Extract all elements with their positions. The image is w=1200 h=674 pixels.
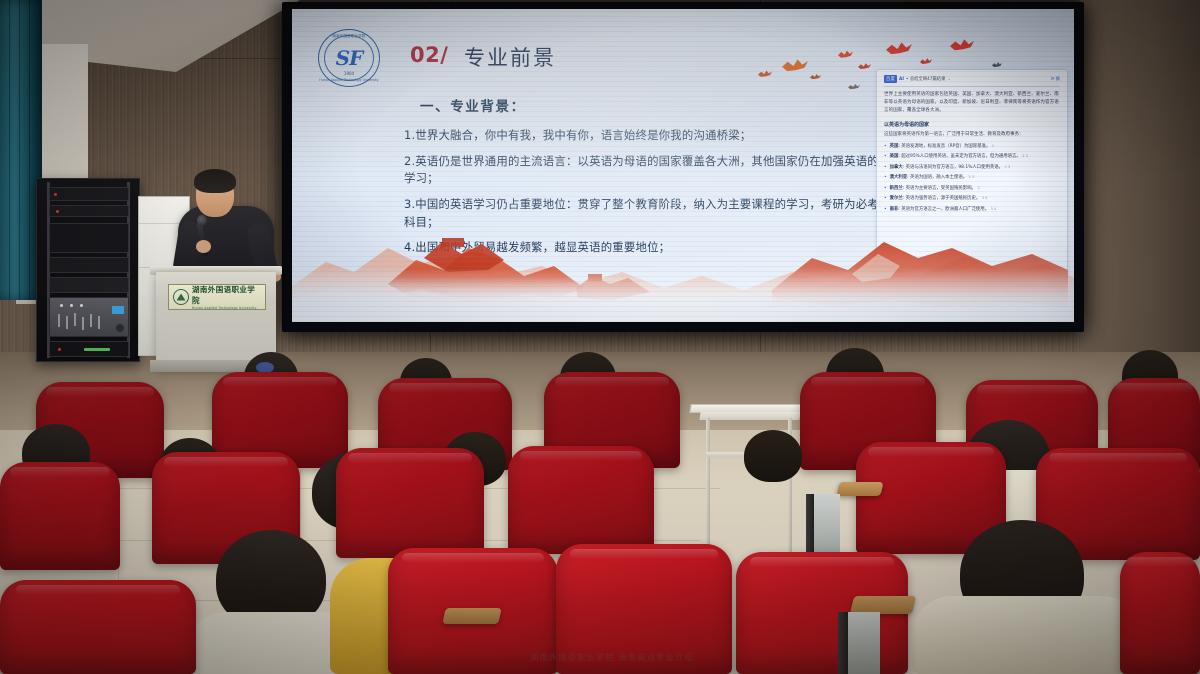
podium-logo-icon bbox=[173, 289, 189, 305]
slide-bullet: 1.世界大融合，你中有我，我中有你，语言始终是你我的沟通桥梁； bbox=[404, 127, 879, 145]
slide-title: 专业前景 bbox=[464, 42, 556, 72]
ai-list-item: • 英国: 英语发源地，标准发音（RP音）为国际基准。 1 bbox=[884, 143, 1060, 150]
bullet-dot-icon: • bbox=[884, 143, 887, 150]
ai-tag: AI bbox=[899, 77, 904, 82]
speaker-hair bbox=[194, 169, 236, 193]
photo-watermark: 湖南外国语职业学院 商务英语专业介绍 bbox=[452, 652, 772, 663]
ai-list-item: • 新西兰: 英语为主要语言，受英国殖民影响。 3 bbox=[884, 185, 1060, 192]
bird-icon bbox=[848, 83, 860, 90]
ai-item-refs: 3 4 bbox=[982, 196, 988, 200]
baidu-badge: 百度 bbox=[884, 75, 897, 83]
bird-icon bbox=[950, 37, 974, 52]
ai-item-country: 美国 bbox=[890, 154, 899, 159]
ai-panel-header: 百度 AI • 总结全网47篇结果 ⌄ ⟳ 换 bbox=[884, 75, 1060, 87]
seal-year: 1904 bbox=[319, 71, 379, 76]
ai-item-desc: 英语为主要语言，受英国殖民影响。 bbox=[906, 186, 976, 191]
slide-heading: 一、专业背景： bbox=[420, 95, 526, 115]
bird-icon bbox=[758, 69, 772, 78]
university-seal-logo: 湖南外国语职业学院 SF 1904 Hunan Applied Technolo… bbox=[318, 29, 380, 87]
bullet-dot-icon: • bbox=[884, 185, 887, 192]
ai-item-refs: 2 3 bbox=[1022, 154, 1028, 158]
projection-screen: 湖南外国语职业学院 SF 1904 Hunan Applied Technolo… bbox=[292, 9, 1074, 322]
ai-item-country: 澳大利亚 bbox=[890, 175, 908, 180]
bird-icon bbox=[838, 49, 853, 59]
ai-lead-text: 这些国家将英语作为第一语言，广泛用于日常生活、教育及政府事务： bbox=[884, 131, 1060, 139]
bird-icon bbox=[886, 40, 912, 56]
ai-item-desc: 英语为国语，融入本土俚语。 bbox=[910, 175, 967, 180]
armrest bbox=[442, 608, 501, 624]
refresh-icon[interactable]: ⟳ 换 bbox=[1051, 76, 1060, 82]
armrest bbox=[837, 482, 884, 496]
ai-item-country: 爱尔兰 bbox=[890, 196, 903, 201]
seal-ring-bottom-text: Hunan Applied Technology University bbox=[319, 78, 379, 82]
seat bbox=[0, 462, 120, 570]
ai-item-desc: 英语发源地，标准发音（RP音）为国际基准。 bbox=[901, 144, 990, 149]
seat bbox=[508, 446, 654, 554]
microphone-head bbox=[197, 215, 207, 226]
ai-item-country: 加拿大 bbox=[890, 165, 903, 170]
ai-item-desc: 英语为强势语言，源于英国殖民历史。 bbox=[906, 196, 981, 201]
bird-icon bbox=[782, 57, 808, 73]
mist-overlay bbox=[292, 268, 1074, 322]
audio-mixer[interactable] bbox=[49, 297, 129, 337]
ai-item-refs: 1 bbox=[992, 144, 994, 148]
podium-nameplate: 湖南外国语职业学院 Hunan Applied Technology Unive… bbox=[168, 284, 266, 310]
ai-list-item: • 加拿大: 英语与法语同为官方语言，98.1%人口使用英语。 2 3 bbox=[884, 164, 1060, 171]
ai-list-item: • 南非: 英语为官方语言之一，欧洲裔人口广泛使用。 3 4 bbox=[884, 206, 1060, 213]
bird-icon bbox=[810, 73, 821, 80]
bullet-dot-icon: • bbox=[884, 195, 887, 202]
bird-icon bbox=[920, 57, 932, 65]
seal-ring-top-text: 湖南外国语职业学院 bbox=[319, 33, 379, 38]
bullet-dot-icon: • bbox=[884, 153, 887, 160]
ai-list-item: • 爱尔兰: 英语为强势语言，源于英国殖民历史。 3 4 bbox=[884, 195, 1060, 202]
seat bbox=[0, 580, 196, 674]
ai-item-refs: 3 bbox=[977, 186, 979, 190]
ai-item-refs: 3 4 bbox=[991, 207, 997, 211]
ai-summary-label: • 总结全网47篇结果 bbox=[906, 76, 945, 82]
slide-section-number: 02/ bbox=[410, 43, 448, 67]
av-equipment-rack bbox=[36, 178, 140, 362]
bullet-dot-icon: • bbox=[884, 164, 887, 171]
seat-side-panel bbox=[846, 612, 880, 674]
lecture-hall-photo: 湖南外国语职业学院 SF 1904 Hunan Applied Technolo… bbox=[0, 0, 1200, 674]
ai-item-desc: 英语为官方语言之一，欧洲裔人口广泛使用。 bbox=[901, 207, 989, 212]
ai-item-refs: 2 3 bbox=[1004, 165, 1010, 169]
audience-head bbox=[744, 430, 802, 482]
mountain-illustration bbox=[292, 214, 1074, 322]
ai-list-item: • 美国: 超过95%人口使用英语，虽未定为官方语言，但为通用语言。 2 3 bbox=[884, 153, 1060, 160]
seat-post bbox=[838, 612, 848, 674]
bullet-dot-icon: • bbox=[884, 174, 887, 181]
ai-item-desc: 超过95%人口使用英语，虽未定为官方语言，但为通用语言。 bbox=[901, 154, 1021, 159]
podium-institution-en: Hunan Applied Technology University bbox=[192, 306, 261, 310]
ai-item-country: 新西兰 bbox=[890, 186, 903, 191]
bird-icon bbox=[992, 61, 1002, 68]
slide-bullet: 2.英语仍是世界通用的主流语言：以英语为母语的国家覆盖各大洲，其他国家仍在加强英… bbox=[404, 153, 879, 188]
ai-item-country: 南非 bbox=[890, 207, 899, 212]
audience-shoulder bbox=[912, 596, 1142, 674]
seal-monogram: SF bbox=[336, 46, 363, 70]
seat bbox=[1120, 552, 1200, 674]
ai-list-item: • 澳大利亚: 英语为国语，融入本土俚语。 2 3 bbox=[884, 174, 1060, 181]
chevron-down-icon[interactable]: ⌄ bbox=[947, 77, 951, 82]
ai-item-refs: 2 3 bbox=[969, 175, 975, 179]
seat bbox=[336, 448, 484, 558]
ai-paragraph: 世界上主要使用英语的国家包括英国、美国、加拿大、澳大利亚、新西兰、爱尔兰、南非等… bbox=[884, 91, 1060, 115]
ai-item-country: 英国 bbox=[890, 144, 899, 149]
rolling-table-apron bbox=[699, 412, 800, 420]
bird-icon bbox=[858, 62, 871, 70]
podium-institution-cn: 湖南外国语职业学院 bbox=[192, 284, 261, 306]
bullet-dot-icon: • bbox=[884, 206, 887, 213]
ai-item-desc: 英语与法语同为官方语言，98.1%人口使用英语。 bbox=[906, 165, 1003, 170]
ai-subheading: 以英语为母语的国家 bbox=[884, 121, 1060, 128]
speaker-left-hand bbox=[196, 240, 211, 253]
right-wall-panel bbox=[1080, 0, 1200, 352]
